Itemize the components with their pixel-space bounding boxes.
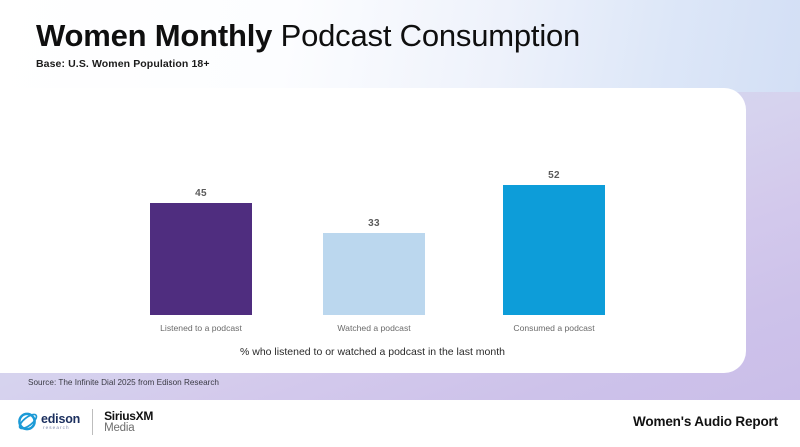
edison-sub: research [43,426,80,431]
edison-name: edison [41,413,80,426]
edison-research-logo: edison research [16,410,80,434]
bar-label-listened: Listened to a podcast [138,323,264,333]
page-title: Women Monthly Podcast Consumption [36,18,756,54]
report-name: Women's Audio Report [633,414,778,429]
bar-column-listened[interactable]: 45 Listened to a podcast [150,188,252,316]
bar-rect-watched[interactable] [323,233,425,316]
bar-label-consumed: Consumed a podcast [491,323,617,333]
page-title-regular: Podcast Consumption [272,18,580,53]
siriusxm-media-logo: SiriusXM Media [104,410,153,435]
logo-group: edison research SiriusXM Media [16,409,153,435]
logo-divider [92,409,93,435]
slide-footer: edison research SiriusXM Media Women's A… [0,400,800,447]
slide-background: Women Monthly Podcast Consumption Base: … [0,0,800,447]
bar-group: 45 Listened to a podcast 33 Watched a po… [110,150,650,315]
axis-caption: % who listened to or watched a podcast i… [0,346,745,358]
page-subtitle: Base: U.S. Women Population 18+ [36,58,756,70]
bar-label-watched: Watched a podcast [311,323,437,333]
siriusxm-sub: Media [104,422,153,434]
slide-header: Women Monthly Podcast Consumption Base: … [36,18,756,70]
page-title-bold: Women Monthly [36,18,272,53]
source-note: Source: The Infinite Dial 2025 from Edis… [28,378,219,387]
edison-wordmark: edison research [41,413,80,431]
bar-column-watched[interactable]: 33 Watched a podcast [323,218,425,316]
bar-value-consumed: 52 [503,170,605,181]
bar-rect-consumed[interactable] [503,185,605,315]
bar-column-consumed[interactable]: 52 Consumed a podcast [503,170,605,315]
bar-value-listened: 45 [150,188,252,199]
siriusxm-name: SiriusXM [104,410,153,423]
bar-rect-listened[interactable] [150,203,252,316]
edison-orbit-icon [16,410,40,434]
bar-chart: 45 Listened to a podcast 33 Watched a po… [0,150,745,335]
bar-value-watched: 33 [323,218,425,229]
